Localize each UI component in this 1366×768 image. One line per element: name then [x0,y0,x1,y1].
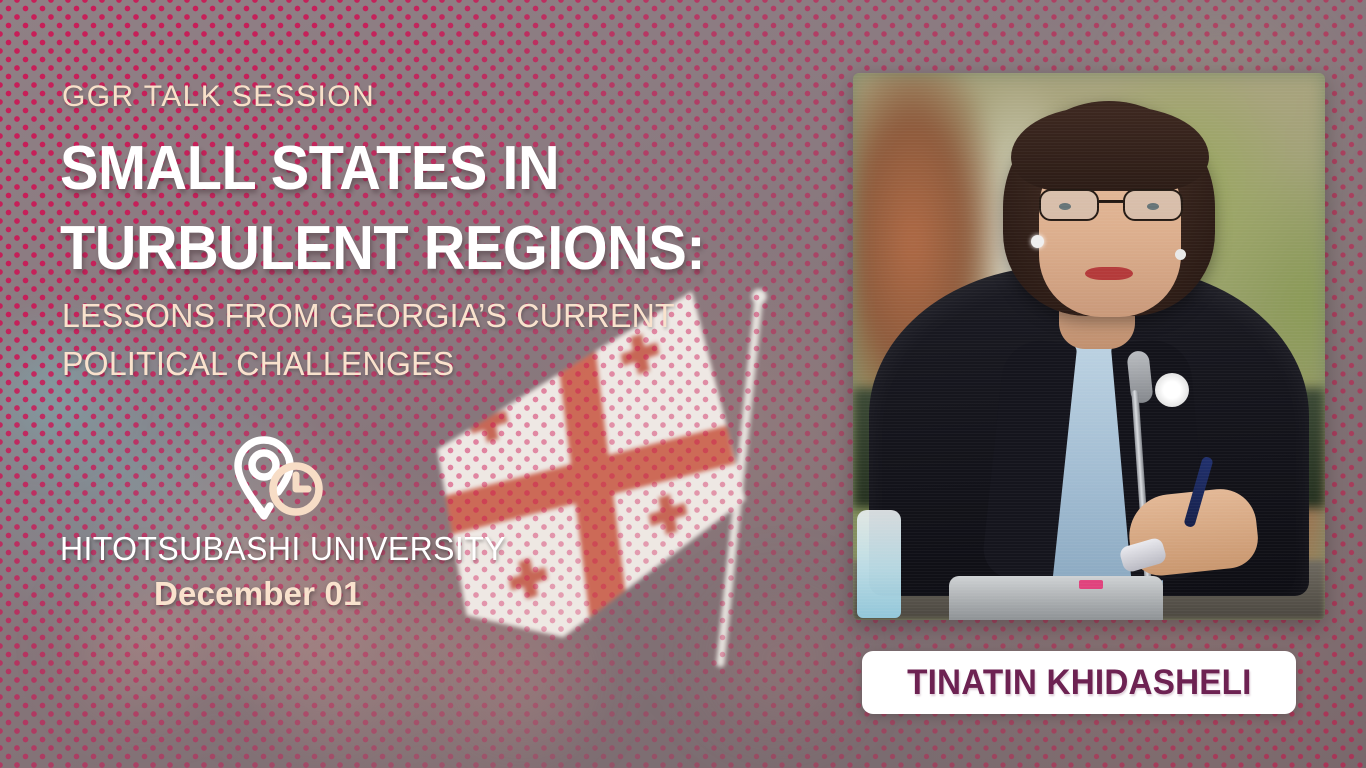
photo-hair-fringe [1011,107,1209,191]
speaker-photo [853,73,1325,620]
photo-lapel-flower [1155,373,1189,407]
venue-label: HITOTSUBASHI UNIVERSITY [60,530,506,568]
page-title-line-2: TURBULENT REGIONS: [60,213,705,284]
page-title-line-1: SMALL STATES IN [60,133,559,204]
photo-lips [1085,267,1133,280]
glasses-icon [1037,189,1185,223]
date-label: December 01 [154,575,362,613]
water-bottle-icon [857,510,901,618]
glasses-bridge [1099,200,1123,203]
photo-earring-right [1175,249,1186,260]
subtitle-line-2: POLITICAL CHALLENGES [62,345,454,383]
photo-earring-left [1031,235,1044,248]
event-poster: GGR TALK SESSION SMALL STATES IN TURBULE… [0,0,1366,768]
text-column: GGR TALK SESSION SMALL STATES IN TURBULE… [62,0,822,768]
subtitle-line-1: LESSONS FROM GEORGIA’S CURRENT [62,297,675,335]
session-eyebrow-label: GGR TALK SESSION [62,80,375,114]
photo-desk-device [949,576,1163,620]
glasses-lens-left [1039,189,1099,221]
glasses-lens-right [1123,189,1183,221]
speaker-nameplate: TINATIN KHIDASHELI [862,651,1296,714]
map-pin-clock-icon [220,428,328,520]
speaker-name-label: TINATIN KHIDASHELI [907,663,1252,703]
